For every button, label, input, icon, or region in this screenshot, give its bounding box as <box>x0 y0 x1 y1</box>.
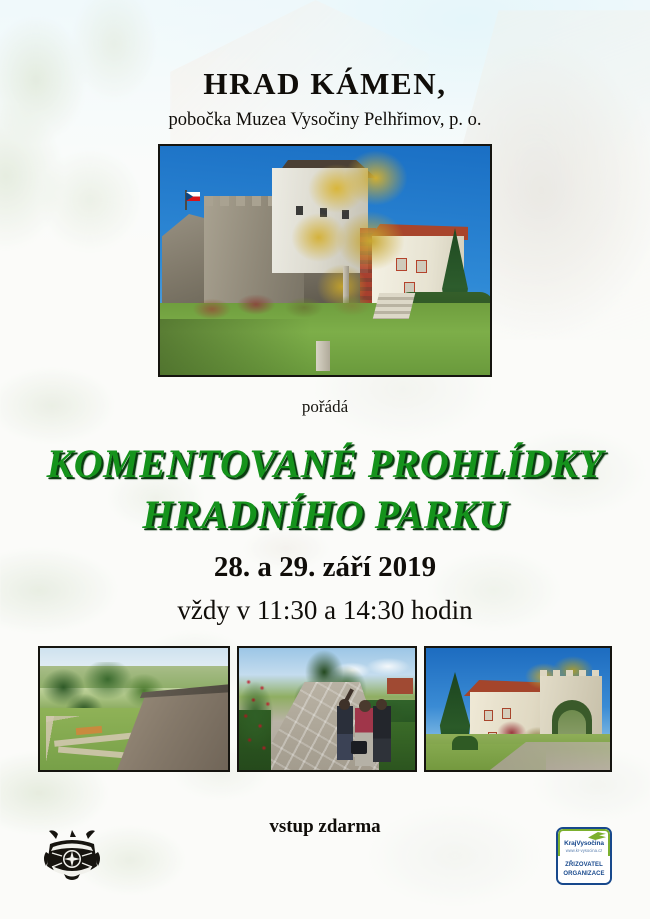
photo-visitor <box>355 708 375 766</box>
page-title: HRAD KÁMEN, <box>0 66 650 102</box>
guided-tour-visitors-photo <box>237 646 417 772</box>
photo-red-roses <box>239 670 287 770</box>
castle-kamen-photo <box>158 144 492 377</box>
photo-visitor-head <box>376 699 387 710</box>
logo-bottom-panel <box>558 856 610 883</box>
photo-visitor-head <box>359 700 371 712</box>
castle-ivy-gate-photo <box>424 646 612 772</box>
museum-seal-logo <box>40 826 104 888</box>
photo-strip <box>0 646 650 774</box>
event-poster: HRAD KÁMEN, pobočka Muzea Vysočiny Pelhř… <box>0 0 650 919</box>
logo-brand-name: KrajVysočina <box>558 840 610 847</box>
photo-visitor <box>373 706 391 762</box>
logo-role-line-2: ORGANIZACE <box>558 871 610 877</box>
logo-role-line-1: ZŘIZOVATEL <box>558 862 610 868</box>
organizes-label: pořádá <box>0 397 650 417</box>
logo-brand-vysocina: Vysočina <box>576 840 604 847</box>
event-title-line-2: HRADNÍHO PARKU <box>0 491 650 538</box>
photo-bush <box>452 736 478 750</box>
page-subtitle: pobočka Muzea Vysočiny Pelhřimov, p. o. <box>0 110 650 131</box>
logo-brand-kraj: Kraj <box>564 840 576 847</box>
photo-shrubs <box>188 291 388 321</box>
park-from-castle-wall-photo <box>38 646 230 772</box>
event-time: vždy v 11:30 a 14:30 hodin <box>0 595 650 626</box>
photo-shoulder-bag <box>351 741 367 754</box>
photo-window <box>484 710 493 721</box>
photo-stone-marker <box>316 341 330 371</box>
event-date: 28. a 29. září 2019 <box>0 551 650 584</box>
kraj-vysocina-logo: KrajVysočina www.kr-vysocina.cz ZŘIZOVAT… <box>556 827 612 885</box>
photo-lawn-shadow <box>160 319 310 375</box>
logo-url: www.kr-vysocina.cz <box>558 848 610 853</box>
poster-content: HRAD KÁMEN, pobočka Muzea Vysočiny Pelhř… <box>0 0 650 919</box>
event-title-line-1: KOMENTOVANÉ PROHLÍDKY <box>0 440 650 487</box>
